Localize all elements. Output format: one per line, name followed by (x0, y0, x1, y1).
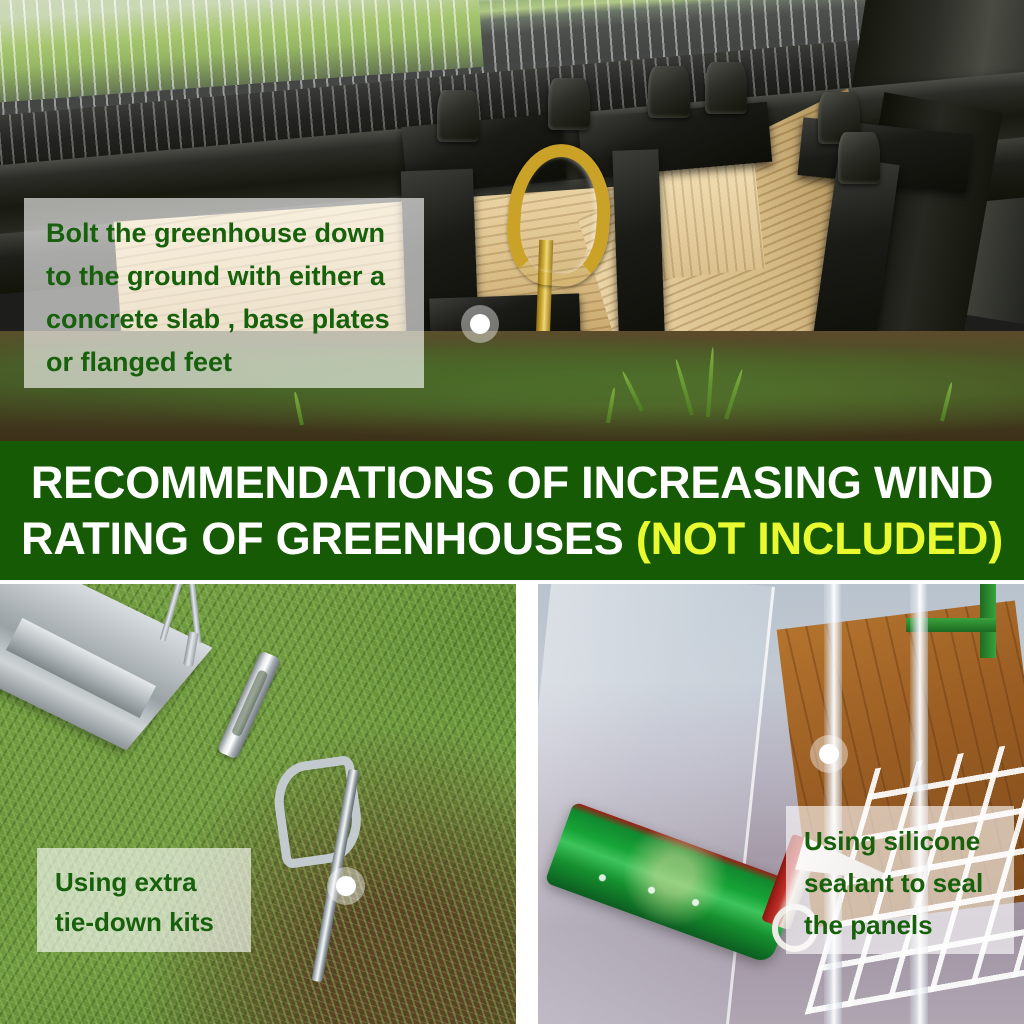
dome-nut-bolt-1 (437, 90, 479, 142)
caption-top-line-4: or flanged feet (46, 341, 404, 384)
dome-nut-bolt-3 (648, 66, 690, 118)
caption-br-line-3: the panels (804, 904, 1014, 946)
panel-seam-marker-icon (810, 735, 848, 773)
photo-silicone-sealant (538, 584, 1024, 1024)
caption-tie-down-kits: Using extra tie-down kits (37, 848, 251, 952)
headline-banner: RECOMMENDATIONS OF INCREASING WIND RATIN… (0, 441, 1024, 580)
infographic-root: Bolt the greenhouse down to the ground w… (0, 0, 1024, 1024)
panel-seam-right (910, 584, 928, 1024)
caption-bl-line-1: Using extra (55, 862, 251, 902)
headline-line-2-prefix: RATING OF GREENHOUSES (21, 513, 636, 564)
caption-br-line-1: Using silicone (804, 820, 1014, 862)
caption-silicone-sealant: Using silicone sealant to seal the panel… (786, 806, 1014, 954)
headline-not-included: (NOT INCLUDED) (636, 513, 1003, 564)
caption-top-line-2: to the ground with either a (46, 255, 404, 298)
vertical-divider (516, 580, 538, 1024)
caption-br-line-2: sealant to seal (804, 862, 1014, 904)
headline-line-1: RECOMMENDATIONS OF INCREASING WIND (31, 455, 993, 511)
ground-anchor-marker-icon (327, 867, 365, 905)
anchor-plate-middle-leg (612, 149, 665, 360)
caption-bl-line-2: tie-down kits (55, 902, 251, 942)
headline-line-2: RATING OF GREENHOUSES (NOT INCLUDED) (21, 511, 1003, 567)
caption-bolt-down: Bolt the greenhouse down to the ground w… (24, 198, 424, 388)
dome-nut-bolt-2 (548, 78, 590, 130)
anchor-bolt-marker-icon (461, 305, 499, 343)
photo-tie-down-kit (0, 584, 516, 1024)
caption-top-line-3: concrete slab , base plates (46, 298, 404, 341)
dome-nut-bolt-6 (838, 132, 880, 184)
photo-anchor-bolting: Bolt the greenhouse down to the ground w… (0, 0, 1024, 441)
dome-nut-bolt-4 (705, 62, 747, 114)
caption-top-line-1: Bolt the greenhouse down (46, 212, 404, 255)
panel-seam-left (824, 584, 842, 1024)
